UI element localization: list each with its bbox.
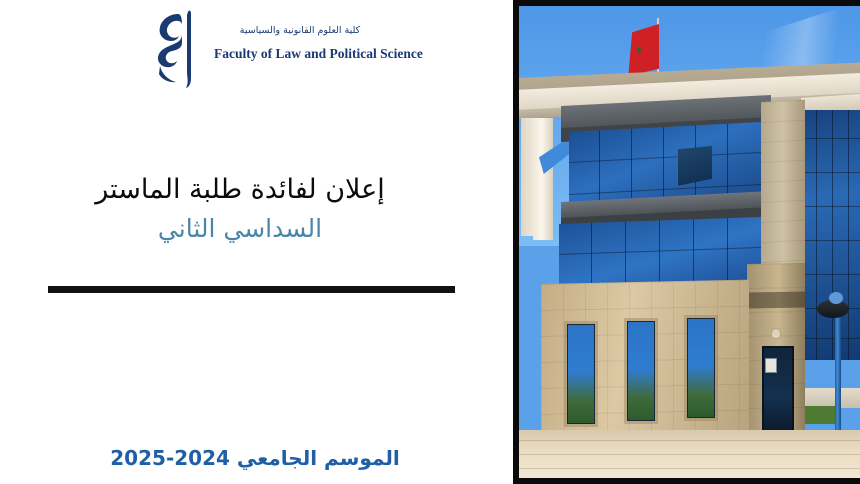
door-sign xyxy=(765,358,777,373)
tall-window xyxy=(567,324,595,424)
faculty-logo-text: كلية العلوم القانونية والسياسية Faculty … xyxy=(214,24,386,62)
academic-year-label: الموسم الجامعي 2024-2025 xyxy=(20,444,490,472)
lawn xyxy=(805,406,839,424)
faculty-name-english: Faculty of Law and Political Science xyxy=(214,46,386,62)
text-panel: كلية العلوم القانونية والسياسية Faculty … xyxy=(0,0,513,484)
headline-sub-line: السداسي الثاني xyxy=(20,212,460,246)
tall-window xyxy=(687,318,715,418)
building-photo-frame xyxy=(513,0,860,484)
tall-window xyxy=(627,321,655,421)
column-near xyxy=(533,118,553,240)
faculty-building-photo xyxy=(519,6,860,478)
headline: إعلان لفائدة طلبة الماستر السداسي الثاني xyxy=(20,172,460,246)
right-glass-wall xyxy=(801,110,860,360)
faculty-calligraphy-mark-icon xyxy=(148,8,210,90)
wall-lamp-icon xyxy=(771,328,781,339)
paved-ground xyxy=(519,430,860,478)
column-far xyxy=(521,118,533,236)
divider-rule xyxy=(48,286,455,293)
faculty-name-arabic: كلية العلوم القانونية والسياسية xyxy=(214,24,386,38)
stone-pier xyxy=(761,100,805,282)
entrance-overhang-shadow xyxy=(747,291,805,308)
faculty-logo: كلية العلوم القانونية والسياسية Faculty … xyxy=(148,8,383,90)
announcement-slide: كلية العلوم القانونية والسياسية Faculty … xyxy=(0,0,860,484)
headline-main-line: إعلان لفائدة طلبة الماستر xyxy=(20,172,460,208)
perimeter-wall xyxy=(803,388,860,408)
street-lamp-cap xyxy=(829,292,843,304)
